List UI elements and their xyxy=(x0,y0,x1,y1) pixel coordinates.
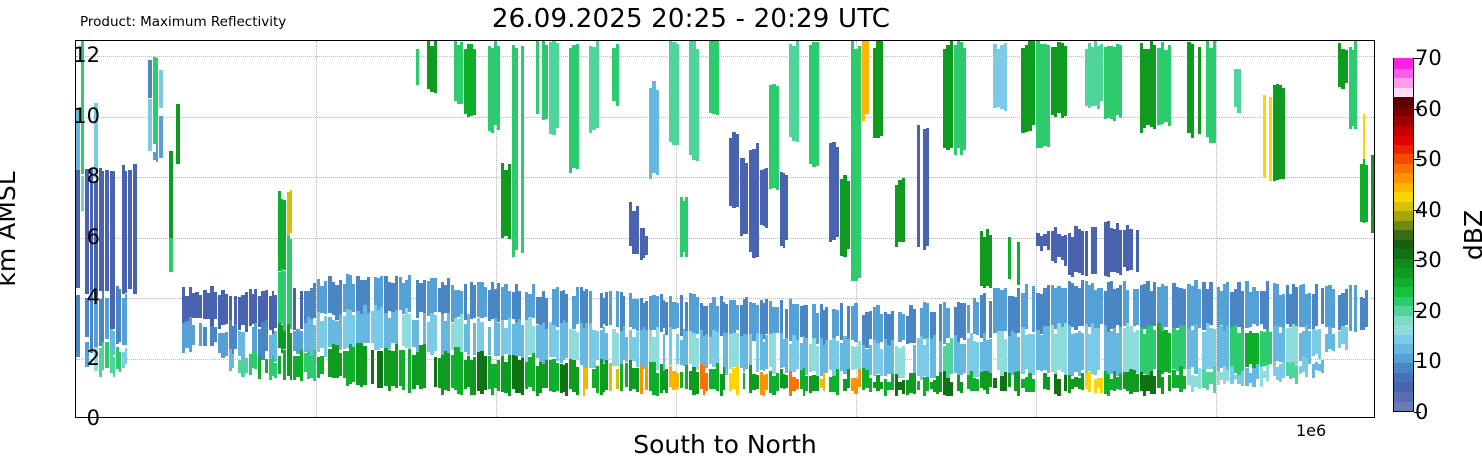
mesh-cell xyxy=(963,303,966,340)
mesh-cell xyxy=(313,283,316,318)
mesh-cell xyxy=(113,331,116,355)
chart-root: Product: Maximum Reflectivity 26.09.2025… xyxy=(0,0,1482,470)
mesh-cell xyxy=(736,366,739,394)
mesh-cell xyxy=(609,363,612,390)
mesh-cell xyxy=(963,344,966,373)
y-axis-tick-mark xyxy=(75,238,76,239)
y-axis-tick-label: 2 xyxy=(87,346,100,370)
mesh-cell xyxy=(745,163,748,235)
mesh-cell xyxy=(1295,326,1298,366)
mesh-cell xyxy=(736,305,739,330)
mesh-cell xyxy=(258,357,261,379)
mesh-cell xyxy=(324,316,327,357)
mesh-cell xyxy=(756,333,759,372)
mesh-cell xyxy=(676,44,679,145)
mesh-cell xyxy=(1017,371,1020,395)
colorbar-band xyxy=(1394,191,1413,201)
mesh-cell xyxy=(125,171,128,293)
mesh-cell xyxy=(1136,330,1139,374)
mesh-cell xyxy=(1226,370,1229,381)
mesh-cell xyxy=(133,164,137,293)
mesh-cell xyxy=(545,45,548,119)
mesh-cell xyxy=(1025,284,1029,329)
colorbar-band xyxy=(1394,115,1413,125)
mesh-cell xyxy=(1315,284,1318,326)
mesh-cell xyxy=(521,325,524,360)
mesh-cell xyxy=(521,358,524,395)
colorbar-tick-mark xyxy=(1414,159,1421,160)
colorbar-band xyxy=(1394,68,1413,78)
mesh-cell xyxy=(983,293,986,336)
y-axis-tick-label: 6 xyxy=(87,225,100,249)
mesh-cell xyxy=(371,350,374,384)
colorbar-band xyxy=(1394,315,1413,325)
mesh-cell xyxy=(696,49,699,161)
mesh-cell xyxy=(1119,285,1122,331)
x-axis-tick-mark xyxy=(856,417,857,418)
mesh-cell xyxy=(976,379,979,391)
mesh-cell xyxy=(203,327,207,347)
mesh-cell xyxy=(976,342,979,377)
mesh-cell xyxy=(380,351,383,388)
mesh-cell xyxy=(725,333,728,375)
mesh-cell xyxy=(1332,334,1335,351)
mesh-cell xyxy=(696,338,699,370)
mesh-cell xyxy=(1085,231,1088,276)
mesh-cell xyxy=(254,352,257,370)
mesh-cell xyxy=(869,311,872,340)
mesh-cell xyxy=(434,41,437,93)
mesh-cell xyxy=(293,288,296,330)
mesh-cell xyxy=(367,277,371,314)
mesh-cell xyxy=(609,291,612,326)
mesh-cell xyxy=(105,170,109,291)
mesh-cell xyxy=(950,338,953,374)
mesh-cell xyxy=(960,382,963,392)
mesh-cell xyxy=(1345,50,1348,83)
y-axis-tick-label: 0 xyxy=(87,406,100,430)
mesh-cell xyxy=(891,374,894,389)
mesh-cell xyxy=(484,356,487,390)
mesh-cell xyxy=(596,41,599,128)
mesh-cell xyxy=(796,304,799,340)
mesh-cell xyxy=(1194,324,1198,374)
colorbar-tick-mark xyxy=(1414,210,1421,211)
colorbar-band xyxy=(1394,106,1413,116)
mesh-cell xyxy=(460,314,463,357)
mesh-cell xyxy=(113,357,116,376)
mesh-cell xyxy=(645,368,648,390)
mesh-cell xyxy=(576,367,579,395)
mesh-cell xyxy=(1164,286,1168,327)
colorbar-band xyxy=(1394,172,1413,182)
mesh-cell xyxy=(447,313,450,356)
mesh-cell xyxy=(1374,150,1376,229)
colorbar-band xyxy=(1394,286,1413,296)
mesh-cell xyxy=(1213,41,1217,143)
mesh-cell xyxy=(125,348,128,364)
mesh-cell xyxy=(796,41,799,142)
mesh-cell xyxy=(1004,372,1008,391)
mesh-cell xyxy=(976,302,979,336)
mesh-cell xyxy=(847,306,850,339)
mesh-cell xyxy=(1266,365,1269,382)
mesh-cell xyxy=(1064,288,1067,328)
mesh-cell xyxy=(556,363,559,391)
mesh-cell xyxy=(816,346,819,378)
mesh-cell xyxy=(1047,231,1051,250)
mesh-cell xyxy=(1008,237,1011,279)
mesh-cell xyxy=(917,381,920,390)
x-axis-offset-text: 1e6 xyxy=(1296,421,1326,440)
mesh-cell xyxy=(1354,285,1357,332)
mesh-cell xyxy=(245,292,248,332)
mesh-cell xyxy=(1032,41,1036,125)
mesh-cell xyxy=(1119,373,1122,390)
mesh-cell xyxy=(1332,289,1335,329)
mesh-cell xyxy=(665,369,668,393)
mesh-cell xyxy=(685,365,688,389)
y-axis-tick-label: 12 xyxy=(73,43,100,67)
mesh-cell xyxy=(254,289,257,327)
mesh-cell xyxy=(1241,329,1245,370)
mesh-cell xyxy=(1183,376,1187,389)
mesh-cell xyxy=(765,374,768,390)
mesh-cell xyxy=(119,289,122,342)
mesh-cell xyxy=(902,346,905,377)
mesh-cell xyxy=(585,323,588,369)
mesh-cell xyxy=(408,349,411,393)
mesh-cell xyxy=(1321,288,1324,324)
mesh-cell xyxy=(1119,45,1122,119)
mesh-cell xyxy=(645,330,648,369)
mesh-cell xyxy=(616,44,619,106)
mesh-cell xyxy=(880,41,883,136)
mesh-cell xyxy=(402,350,405,390)
mesh-cell xyxy=(367,313,371,343)
mesh-cell xyxy=(102,291,105,345)
mesh-cell xyxy=(1263,95,1266,178)
mesh-cell xyxy=(576,44,579,169)
mesh-cell xyxy=(620,364,623,391)
colorbar-band xyxy=(1394,87,1413,97)
mesh-cell xyxy=(508,164,511,240)
colorbar-band xyxy=(1394,372,1413,382)
mesh-cell xyxy=(1119,327,1122,375)
mesh-cell xyxy=(676,303,679,328)
mesh-cell xyxy=(283,200,286,270)
mesh-cell xyxy=(716,41,719,115)
mesh-cell xyxy=(1308,293,1311,329)
colorbar-tick-mark xyxy=(1414,361,1421,362)
mesh-cell xyxy=(880,349,883,376)
mesh-cell xyxy=(460,42,463,104)
mesh-cell xyxy=(225,332,228,356)
mesh-cell xyxy=(508,355,511,397)
y-axis-tick-label: 8 xyxy=(87,164,100,188)
mesh-cell xyxy=(119,352,122,372)
mesh-cell xyxy=(1057,379,1060,396)
mesh-cell xyxy=(880,314,883,342)
mesh-cell xyxy=(169,238,173,271)
mesh-cell xyxy=(989,235,992,288)
mesh-cell xyxy=(232,354,235,368)
colorbar-band xyxy=(1394,201,1413,211)
mesh-cell xyxy=(926,128,929,246)
mesh-cell xyxy=(816,313,819,345)
mesh-cell xyxy=(745,334,748,369)
mesh-cell xyxy=(1241,291,1245,330)
mesh-cell xyxy=(989,301,992,338)
mesh-cell xyxy=(656,373,659,396)
mesh-cell xyxy=(156,58,159,144)
mesh-cell xyxy=(1168,45,1172,126)
mesh-cell xyxy=(1017,288,1020,333)
mesh-cell xyxy=(902,314,905,340)
mesh-cell xyxy=(585,368,588,388)
colorbar-band xyxy=(1394,58,1413,68)
colorbar-band xyxy=(1394,258,1413,268)
mesh-cell xyxy=(1064,235,1067,266)
mesh-cell xyxy=(1136,289,1139,325)
mesh-cell xyxy=(776,307,779,333)
mesh-cell xyxy=(1354,41,1357,129)
mesh-cell xyxy=(283,350,286,380)
mesh-cell xyxy=(913,309,916,343)
mesh-cell xyxy=(300,350,303,381)
colorbar-band xyxy=(1394,96,1413,106)
mesh-cell xyxy=(858,46,861,278)
mesh-cell xyxy=(950,41,953,148)
mesh-cell xyxy=(274,295,277,328)
mesh-cell xyxy=(772,333,775,374)
x-axis-label: South to North xyxy=(75,430,1375,459)
mesh-cell xyxy=(274,331,277,362)
mesh-cell xyxy=(521,46,524,253)
mesh-cell xyxy=(234,324,237,349)
mesh-cell xyxy=(696,297,699,334)
mesh-cell xyxy=(685,302,688,330)
mesh-cell xyxy=(556,287,559,327)
mesh-cell xyxy=(756,375,759,389)
mesh-cell xyxy=(1295,287,1298,330)
mesh-cell xyxy=(816,376,819,391)
mesh-cell xyxy=(245,358,248,373)
mesh-cell xyxy=(1047,377,1051,390)
mesh-cell xyxy=(76,295,80,358)
mesh-cell xyxy=(891,311,894,344)
mesh-cell xyxy=(176,104,180,164)
mesh-cell xyxy=(776,86,779,190)
x-axis-tick-mark xyxy=(316,417,317,418)
mesh-cell xyxy=(395,310,399,347)
mesh-cell xyxy=(625,363,628,388)
mesh-cell xyxy=(913,373,916,395)
mesh-cell xyxy=(545,360,548,388)
colorbar-band xyxy=(1394,344,1413,354)
mesh-cell xyxy=(408,314,411,350)
mesh-cell xyxy=(616,333,619,366)
mesh-cell xyxy=(1161,377,1165,394)
mesh-cell xyxy=(933,312,936,338)
mesh-cell xyxy=(105,298,109,339)
mesh-cell xyxy=(545,298,548,330)
mesh-cell xyxy=(743,373,746,389)
mesh-cell xyxy=(1198,47,1202,134)
mesh-cell xyxy=(1282,294,1285,328)
mesh-cell xyxy=(1198,289,1202,328)
mesh-cell xyxy=(676,334,679,364)
mesh-cell xyxy=(102,171,105,296)
mesh-cell xyxy=(1345,327,1348,350)
mesh-cell xyxy=(636,206,639,254)
colorbar-tick-mark xyxy=(1414,412,1421,413)
colorbar-band xyxy=(1394,210,1413,220)
mesh-cell xyxy=(636,368,639,392)
mesh-cell xyxy=(460,291,463,315)
mesh-cell xyxy=(423,313,427,345)
mesh-cell xyxy=(1282,88,1285,179)
mesh-cell xyxy=(902,380,905,394)
mesh-cell xyxy=(1081,280,1084,325)
mesh-cell xyxy=(274,363,277,378)
colorbar-band xyxy=(1394,277,1413,287)
mesh-cell xyxy=(776,373,779,392)
mesh-cell xyxy=(765,299,768,334)
mesh-cell xyxy=(1153,282,1156,326)
mesh-cell xyxy=(1064,46,1067,116)
mesh-cell xyxy=(1308,331,1311,364)
mesh-cell xyxy=(605,360,608,390)
mesh-cell xyxy=(473,323,476,355)
chart-title: 26.09.2025 20:25 - 20:29 UTC xyxy=(0,4,1382,34)
mesh-cell xyxy=(1168,375,1172,391)
mesh-cell xyxy=(967,305,970,334)
colorbar-tick-mark xyxy=(1414,109,1421,110)
mesh-cell xyxy=(869,378,872,391)
mesh-cell xyxy=(836,341,839,371)
mesh-cell xyxy=(1209,282,1213,325)
mesh-cell xyxy=(745,297,748,337)
mesh-cell xyxy=(933,335,936,378)
mesh-cell xyxy=(339,353,343,376)
mesh-cell xyxy=(159,70,163,108)
colorbar-band xyxy=(1394,401,1413,411)
mesh-cell xyxy=(214,327,218,343)
mesh-cell xyxy=(1094,227,1097,274)
colorbar-band xyxy=(1394,382,1413,392)
colorbar xyxy=(1393,58,1414,412)
mesh-cell xyxy=(283,331,286,349)
mesh-cell xyxy=(847,369,850,388)
mesh-cell xyxy=(716,363,719,391)
mesh-cell xyxy=(1119,230,1122,275)
mesh-cell xyxy=(225,294,228,324)
mesh-cell xyxy=(1237,69,1241,113)
mesh-cell xyxy=(532,284,535,318)
mesh-cell xyxy=(313,350,316,380)
plot-area xyxy=(75,40,1375,418)
mesh-cell xyxy=(785,375,788,388)
mesh-cell xyxy=(214,292,218,318)
mesh-cell xyxy=(484,287,487,316)
mesh-cell xyxy=(605,292,608,326)
mesh-cell xyxy=(725,304,728,333)
mesh-cell xyxy=(1168,333,1172,373)
mesh-cell xyxy=(159,116,163,159)
mesh-cell xyxy=(576,332,579,360)
mesh-cell xyxy=(656,90,659,175)
mesh-cell xyxy=(1241,371,1245,387)
mesh-cell xyxy=(716,332,719,364)
mesh-cell xyxy=(636,332,639,367)
mesh-cell xyxy=(1064,323,1067,378)
mesh-cell xyxy=(352,284,355,312)
mesh-cell xyxy=(352,315,355,347)
mesh-cell xyxy=(950,382,953,396)
mesh-cell xyxy=(1017,242,1020,286)
mesh-cell xyxy=(148,60,152,98)
mesh-cell xyxy=(423,280,427,317)
mesh-cell xyxy=(408,275,411,312)
mesh-cell xyxy=(645,301,648,331)
mesh-cell xyxy=(913,345,916,374)
mesh-cell xyxy=(656,296,659,330)
mesh-cell xyxy=(1349,285,1352,331)
colorbar-band xyxy=(1394,125,1413,135)
mesh-cell xyxy=(497,360,500,391)
mesh-cell xyxy=(1097,328,1100,370)
mesh-cell xyxy=(254,323,257,353)
mesh-cell xyxy=(283,271,286,332)
mesh-cell xyxy=(963,48,966,150)
mesh-cell xyxy=(665,302,668,335)
mesh-cell xyxy=(645,236,648,255)
mesh-cell xyxy=(265,320,268,352)
mesh-cell xyxy=(926,338,929,380)
mesh-cell xyxy=(816,42,819,166)
mesh-cell xyxy=(480,322,483,351)
mesh-cell xyxy=(1266,281,1269,332)
mesh-cell xyxy=(1008,373,1011,387)
mesh-cell xyxy=(128,170,132,289)
mesh-cell xyxy=(696,372,699,394)
mesh-cell xyxy=(825,307,828,341)
colorbar-band xyxy=(1394,77,1413,87)
mesh-cell xyxy=(300,291,303,329)
colorbar-band xyxy=(1394,325,1413,335)
mesh-cell xyxy=(825,340,828,373)
mesh-cell xyxy=(663,334,666,372)
mesh-cell xyxy=(685,197,688,258)
mesh-cell xyxy=(1213,366,1217,393)
mesh-cell xyxy=(847,339,850,371)
colorbar-band xyxy=(1394,296,1413,306)
mesh-cell xyxy=(589,291,592,324)
mesh-cell xyxy=(156,143,159,163)
mesh-cell xyxy=(891,340,894,377)
mesh-cell xyxy=(1269,97,1272,181)
mesh-cell xyxy=(676,373,679,389)
colorbar-band xyxy=(1394,144,1413,154)
mesh-cell xyxy=(241,332,244,361)
y-axis-tick-label: 10 xyxy=(73,104,100,128)
mesh-cell xyxy=(858,341,861,369)
mesh-cell xyxy=(1365,165,1368,222)
mesh-cell xyxy=(113,171,116,329)
mesh-cell xyxy=(1256,291,1260,326)
mesh-cell xyxy=(434,315,437,351)
